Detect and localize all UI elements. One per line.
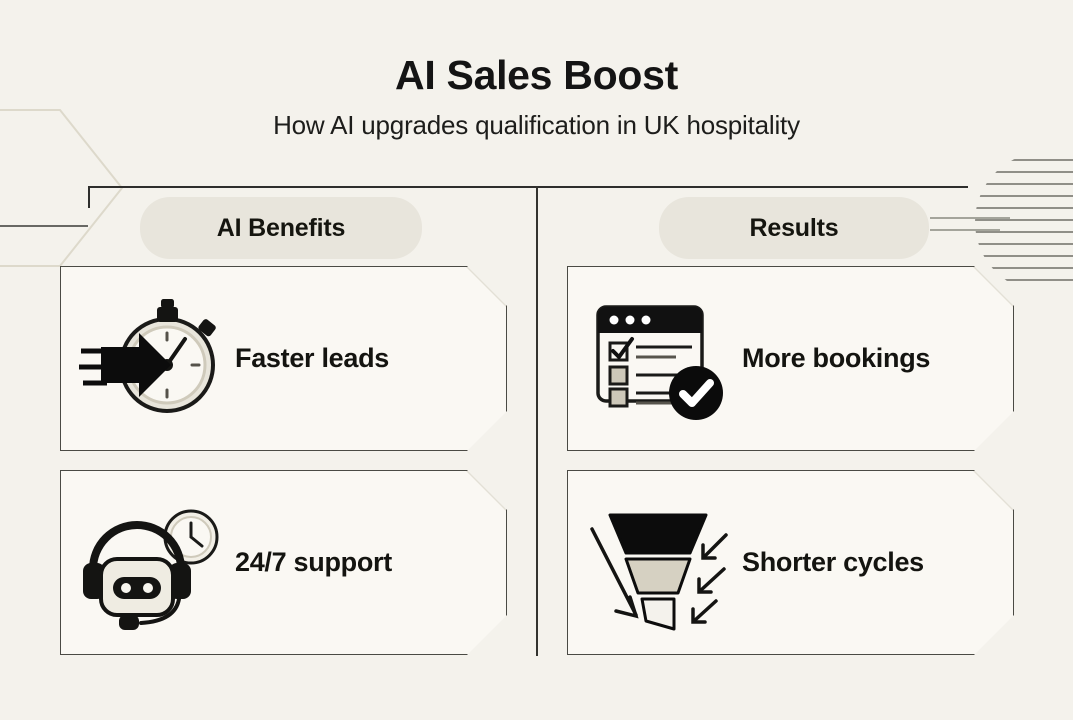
- column-heading-label: AI Benefits: [217, 214, 345, 243]
- column-heading-results: Results: [659, 197, 929, 259]
- card-corner-notch: [466, 267, 506, 307]
- top-rule-tick: [88, 186, 90, 208]
- card-more-bookings[interactable]: More bookings: [567, 266, 1014, 451]
- checklist-window-check-icon: [586, 284, 736, 434]
- card-corner-notch: [466, 471, 506, 511]
- column-heading-label: Results: [750, 214, 839, 243]
- card-corner-notch: [973, 267, 1013, 307]
- infographic-canvas: AI Sales Boost How AI upgrades qualifica…: [0, 0, 1073, 720]
- column-heading-ai-benefits: AI Benefits: [140, 197, 422, 259]
- card-label: More bookings: [742, 343, 930, 374]
- card-label: Shorter cycles: [742, 547, 924, 578]
- card-shorter-cycles[interactable]: Shorter cycles: [567, 470, 1014, 655]
- card-247-support[interactable]: 24/7 support: [60, 470, 507, 655]
- card-label: 24/7 support: [235, 547, 392, 578]
- column-divider: [536, 186, 538, 656]
- stopwatch-speed-icon: [79, 284, 229, 434]
- header-block: AI Sales Boost How AI upgrades qualifica…: [0, 0, 1073, 141]
- card-label: Faster leads: [235, 343, 389, 374]
- card-faster-leads[interactable]: Faster leads: [60, 266, 507, 451]
- funnel-arrows-icon: [586, 488, 736, 638]
- striped-disc-decoration: [930, 160, 1073, 280]
- robot-headset-clock-icon: [79, 488, 229, 638]
- page-subtitle: How AI upgrades qualification in UK hosp…: [0, 99, 1073, 141]
- card-corner-notch: [973, 471, 1013, 511]
- page-title: AI Sales Boost: [0, 0, 1073, 99]
- top-horizontal-rule: [88, 186, 968, 188]
